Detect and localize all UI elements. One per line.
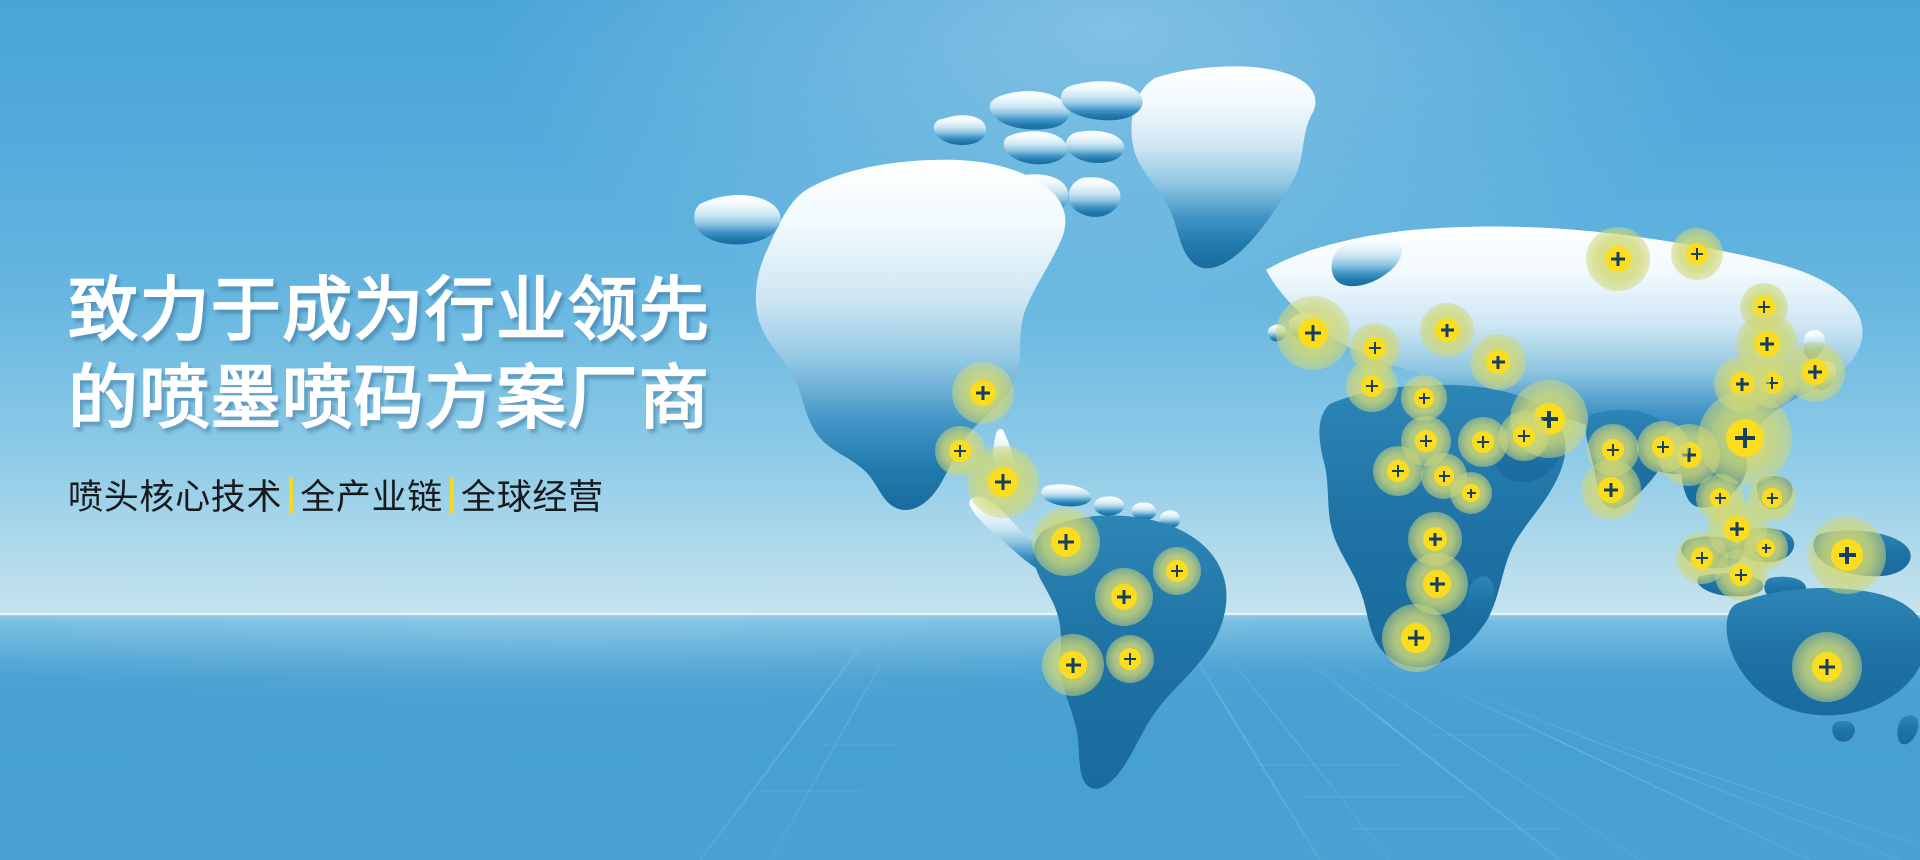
plus-stroke-horizontal — [1419, 397, 1430, 399]
plus-stroke-horizontal — [1430, 583, 1445, 586]
plus-stroke-horizontal — [1408, 637, 1424, 640]
plus-glyph — [1058, 534, 1074, 550]
plus-stroke-horizontal — [1441, 329, 1454, 332]
plus-icon — [1423, 527, 1447, 551]
plus-icon — [1387, 460, 1409, 482]
plus-icon — [1598, 477, 1624, 503]
plus-glyph — [1305, 325, 1321, 341]
plus-glyph — [1439, 471, 1450, 482]
plus-icon — [1119, 648, 1141, 670]
plus-icon — [1472, 431, 1494, 453]
plus-icon — [1802, 359, 1828, 385]
plus-stroke-horizontal — [1366, 385, 1378, 387]
plus-glyph — [1607, 444, 1619, 456]
plus-glyph — [1819, 659, 1835, 675]
headline-line-2: 的喷墨喷码方案厂商 — [68, 360, 908, 437]
plus-stroke-horizontal — [1467, 492, 1476, 494]
plus-icon — [1730, 564, 1752, 586]
plus-icon — [1602, 439, 1624, 461]
plus-stroke-horizontal — [1392, 470, 1404, 472]
subtitle-segment-2: 全产业链 — [300, 469, 443, 520]
plus-glyph — [1408, 630, 1424, 646]
plus-glyph — [954, 445, 966, 457]
plus-icon — [1414, 388, 1434, 408]
plus-stroke-horizontal — [1492, 361, 1505, 364]
plus-glyph — [1392, 465, 1404, 477]
plus-glyph — [1366, 380, 1378, 392]
plus-stroke-horizontal — [1767, 497, 1778, 499]
plus-stroke-horizontal — [1429, 538, 1442, 541]
plus-glyph — [1430, 577, 1445, 592]
plus-glyph — [1808, 365, 1822, 379]
plus-icon — [1486, 350, 1510, 374]
plus-icon — [970, 380, 996, 406]
plus-icon — [1401, 623, 1431, 653]
subtitle-separator-1 — [289, 477, 293, 513]
plus-icon — [949, 440, 971, 462]
plus-glyph — [995, 474, 1011, 490]
plus-stroke-horizontal — [1730, 528, 1744, 531]
plus-stroke-horizontal — [1439, 475, 1450, 477]
plus-icon — [1686, 243, 1708, 265]
plus-icon — [1364, 337, 1386, 359]
plus-stroke-horizontal — [1691, 253, 1703, 255]
plus-stroke-horizontal — [1819, 666, 1835, 669]
plus-glyph — [1419, 393, 1430, 404]
subtitle-separator-2 — [450, 477, 454, 513]
plus-stroke-horizontal — [976, 392, 990, 395]
plus-stroke-horizontal — [1058, 541, 1074, 544]
plus-icon — [1111, 584, 1137, 610]
plus-stroke-horizontal — [1736, 383, 1749, 386]
plus-icon — [1059, 651, 1087, 679]
plus-stroke-horizontal — [1305, 332, 1321, 335]
plus-stroke-horizontal — [1808, 371, 1822, 374]
plus-icon — [1605, 246, 1631, 272]
plus-glyph — [1760, 337, 1774, 351]
plus-stroke-horizontal — [1604, 489, 1618, 492]
plus-stroke-horizontal — [1518, 435, 1530, 437]
plus-glyph — [1429, 533, 1442, 546]
subtitle-segment-1: 喷头核心技术 — [68, 469, 282, 520]
plus-icon — [1415, 430, 1437, 452]
plus-icon — [1831, 539, 1863, 571]
plus-stroke-horizontal — [1715, 497, 1726, 499]
plus-icon — [1462, 484, 1480, 502]
plus-stroke-horizontal — [1735, 436, 1755, 440]
plus-glyph — [1117, 590, 1131, 604]
plus-stroke-horizontal — [1117, 596, 1131, 599]
plus-glyph — [1441, 324, 1454, 337]
plus-stroke-horizontal — [1171, 570, 1183, 572]
plus-stroke-horizontal — [1066, 664, 1081, 667]
plus-icon — [1754, 331, 1780, 357]
plus-glyph — [1492, 356, 1505, 369]
plus-glyph — [1762, 544, 1771, 553]
plus-icon — [1166, 560, 1188, 582]
plus-icon — [1726, 419, 1764, 457]
plus-icon — [1361, 375, 1383, 397]
plus-stroke-horizontal — [1735, 574, 1747, 576]
plus-stroke-horizontal — [1760, 343, 1774, 346]
plus-icon — [1513, 425, 1535, 447]
plus-glyph — [1691, 248, 1703, 260]
plus-glyph — [1735, 428, 1755, 448]
plus-glyph — [1839, 547, 1856, 564]
plus-glyph — [1657, 441, 1669, 453]
plus-glyph — [1604, 483, 1618, 497]
headline-line-1: 致力于成为行业领先 — [68, 272, 908, 349]
banner-hero: 致力于成为行业领先 的喷墨喷码方案厂商 喷头核心技术 全产业链 全球经营 — [0, 0, 1920, 860]
plus-stroke-horizontal — [1758, 306, 1770, 308]
plus-glyph — [1611, 252, 1625, 266]
plus-glyph — [1477, 436, 1489, 448]
plus-stroke-horizontal — [1369, 347, 1381, 349]
plus-icon — [1298, 318, 1328, 348]
plus-glyph — [1730, 522, 1744, 536]
plus-glyph — [1066, 658, 1081, 673]
plus-stroke-horizontal — [1607, 449, 1619, 451]
plus-icon — [988, 467, 1018, 497]
hero-subtitle: 喷头核心技术 全产业链 全球经营 — [68, 469, 908, 520]
plus-icon — [1435, 318, 1459, 342]
hero-copy: 致力于成为行业领先 的喷墨喷码方案厂商 喷头核心技术 全产业链 全球经营 — [68, 272, 908, 520]
plus-glyph — [1735, 569, 1747, 581]
plus-glyph — [976, 386, 990, 400]
plus-icon — [1812, 652, 1842, 682]
plus-icon — [1434, 466, 1454, 486]
plus-stroke-horizontal — [954, 450, 966, 452]
plus-icon — [1051, 527, 1081, 557]
plus-glyph — [1736, 378, 1749, 391]
plus-stroke-horizontal — [1696, 557, 1708, 559]
plus-icon — [1691, 547, 1713, 569]
plus-icon — [1423, 570, 1451, 598]
plus-glyph — [1124, 653, 1136, 665]
plus-glyph — [1758, 301, 1770, 313]
plus-icon — [1762, 488, 1782, 508]
plus-glyph — [1369, 342, 1381, 354]
plus-glyph — [1518, 430, 1530, 442]
page-title: 致力于成为行业领先 的喷墨喷码方案厂商 — [68, 272, 908, 437]
subtitle-segment-3: 全球经营 — [461, 469, 604, 520]
plus-glyph — [1420, 435, 1432, 447]
plus-glyph — [1696, 552, 1708, 564]
plus-stroke-horizontal — [1657, 446, 1669, 448]
plus-icon — [1757, 539, 1775, 557]
plus-stroke-horizontal — [995, 481, 1011, 484]
plus-stroke-horizontal — [1124, 658, 1136, 660]
plus-stroke-horizontal — [1477, 441, 1489, 443]
plus-glyph — [1171, 565, 1183, 577]
plus-stroke-horizontal — [1762, 547, 1771, 549]
plus-stroke-horizontal — [1611, 258, 1625, 261]
plus-glyph — [1467, 489, 1476, 498]
plus-stroke-horizontal — [1839, 553, 1856, 557]
plus-icon — [1652, 436, 1674, 458]
plus-stroke-horizontal — [1420, 440, 1432, 442]
plus-glyph — [1767, 493, 1778, 504]
